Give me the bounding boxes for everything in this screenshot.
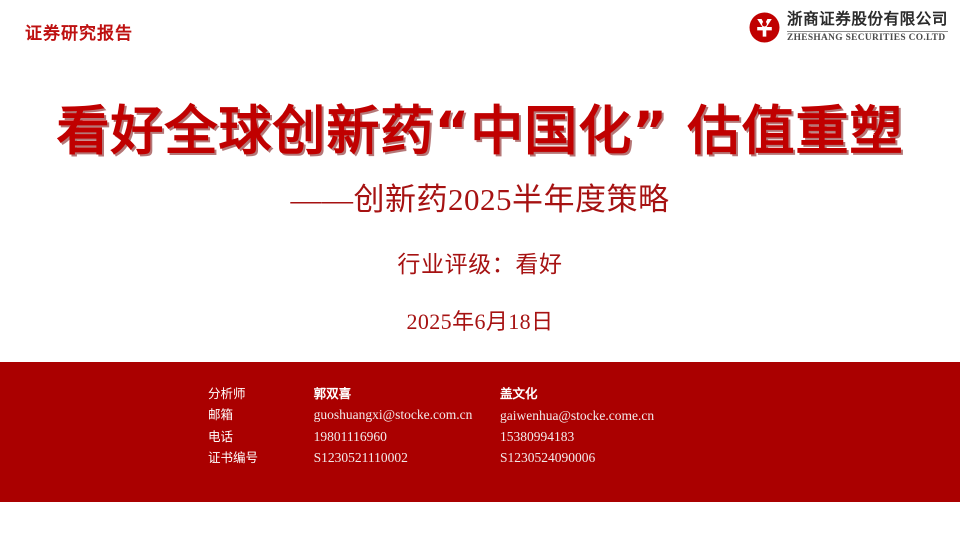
company-name-en: ZHESHANG SECURITIES CO.LTD	[787, 34, 948, 43]
industry-rating: 行业评级：看好	[0, 245, 960, 279]
analyst-license: S1230521110002	[314, 448, 500, 467]
analyst-column-secondary: 盖文化 gaiwenhua@stocke.come.cn 15380994183…	[500, 384, 654, 467]
analyst-phone: 15380994183	[500, 427, 654, 446]
phone-label: 电话	[208, 427, 286, 446]
analyst-name: 盖文化	[500, 384, 654, 403]
zheshang-securities-logo-icon	[749, 12, 780, 43]
analyst-name: 郭双喜	[314, 384, 500, 403]
report-date: 2025年6月18日	[0, 304, 960, 336]
email-label: 邮箱	[208, 405, 286, 424]
presentation-slide: 证券研究报告 浙商证券股份有限公司 ZHESHANG SECURITIES CO…	[0, 0, 960, 540]
footer-band: 分析师 郭双喜 邮箱 guoshuangxi@stocke.com.cn 电话 …	[0, 362, 960, 502]
analyst-email: gaiwenhua@stocke.come.cn	[500, 406, 654, 425]
analyst-email: guoshuangxi@stocke.com.cn	[314, 405, 500, 424]
logo-divider	[787, 31, 948, 32]
company-name-cn: 浙商证券股份有限公司	[787, 12, 948, 30]
company-logo: 浙商证券股份有限公司 ZHESHANG SECURITIES CO.LTD	[749, 12, 948, 43]
analyst-phone: 19801116960	[314, 427, 500, 446]
analyst-info: 分析师 郭双喜 邮箱 guoshuangxi@stocke.com.cn 电话 …	[208, 384, 654, 467]
analyst-label: 分析师	[208, 384, 286, 403]
report-kicker: 证券研究报告	[25, 19, 133, 44]
analyst-license: S1230524090006	[500, 448, 654, 467]
company-logo-text: 浙商证券股份有限公司 ZHESHANG SECURITIES CO.LTD	[787, 12, 948, 43]
page-title: 看好全球创新药“中国化” 估值重塑	[0, 89, 960, 165]
analyst-column-primary: 分析师 郭双喜 邮箱 guoshuangxi@stocke.com.cn 电话 …	[208, 384, 500, 467]
page-subtitle: ——创新药2025半年度策略	[0, 174, 960, 219]
license-label: 证书编号	[208, 448, 286, 467]
